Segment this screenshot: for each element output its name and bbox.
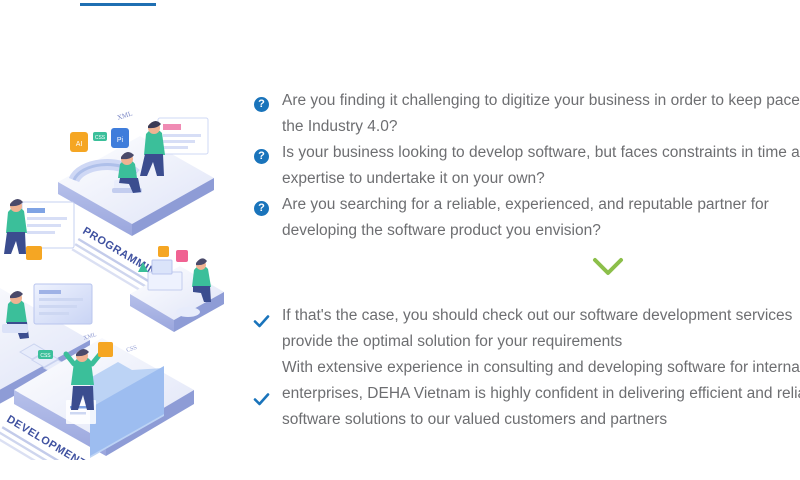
- benefit-item: If that's the case, you should check out…: [252, 303, 800, 355]
- question-item: ? Is your business looking to develop so…: [252, 140, 800, 192]
- svg-text:CSS: CSS: [126, 345, 138, 354]
- svg-text:Pi: Pi: [117, 137, 124, 144]
- benefit-item: With extensive experience in consulting …: [252, 355, 800, 433]
- question-circle-icon: ?: [254, 201, 269, 216]
- svg-text:XML: XML: [83, 332, 98, 342]
- question-text: Are you searching for a reliable, experi…: [282, 192, 800, 244]
- benefit-text: With extensive experience in consulting …: [282, 355, 800, 433]
- svg-text:AI: AI: [76, 141, 83, 148]
- question-circle-icon: ?: [254, 149, 269, 164]
- question-text: Are you finding it challenging to digiti…: [282, 88, 800, 140]
- section-divider: [80, 3, 156, 6]
- question-item: ? Are you searching for a reliable, expe…: [252, 192, 800, 244]
- svg-text:XML: XML: [116, 109, 133, 121]
- illus-screens-upper-left: [4, 199, 74, 260]
- question-circle-icon: ?: [254, 97, 269, 112]
- isometric-illustration: AI CSS Pi XML PROGRAMMING: [0, 60, 252, 460]
- questions-list: ? Are you finding it challenging to digi…: [252, 88, 800, 244]
- benefits-list: If that's the case, you should check out…: [252, 303, 800, 433]
- check-icon: [253, 313, 270, 330]
- chevron-down-icon: [592, 256, 624, 278]
- question-text: Is your business looking to develop soft…: [282, 140, 800, 192]
- page-root: AI CSS Pi XML PROGRAMMING: [0, 0, 800, 480]
- check-icon: [253, 391, 270, 408]
- benefit-text: If that's the case, you should check out…: [282, 303, 800, 355]
- illus-tiles-top: AI CSS Pi XML: [70, 109, 133, 152]
- question-item: ? Are you finding it challenging to digi…: [252, 88, 800, 140]
- svg-text:CSS: CSS: [95, 135, 106, 141]
- illus-screens-left: [34, 284, 92, 324]
- svg-text:CSS: CSS: [40, 353, 51, 359]
